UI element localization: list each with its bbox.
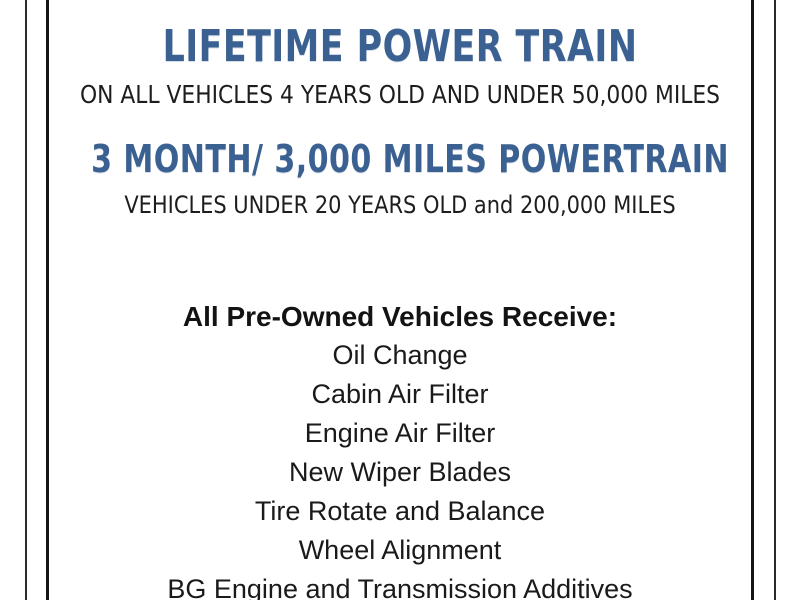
service-item: Wheel Alignment — [49, 531, 751, 570]
service-item: New Wiper Blades — [49, 453, 751, 492]
lifetime-powertrain-subline: ON ALL VEHICLES 4 YEARS OLD AND UNDER 50… — [60, 82, 741, 107]
services-list: Oil ChangeCabin Air FilterEngine Air Fil… — [49, 336, 751, 600]
service-item: Oil Change — [49, 336, 751, 375]
service-item: Tire Rotate and Balance — [49, 492, 751, 531]
border-rule-outer-left — [25, 0, 27, 600]
services-section: All Pre-Owned Vehicles Receive: Oil Chan… — [49, 298, 751, 600]
border-rule-inner-right — [751, 0, 754, 600]
flyer-content: LIFETIME POWER TRAIN ON ALL VEHICLES 4 Y… — [49, 0, 751, 600]
service-item: Engine Air Filter — [49, 414, 751, 453]
service-item: Cabin Air Filter — [49, 375, 751, 414]
three-month-powertrain-subline: VEHICLES UNDER 20 YEARS OLD and 200,000 … — [60, 193, 741, 217]
border-rule-outer-right — [774, 0, 776, 600]
three-month-powertrain-headline: 3 MONTH/ 3,000 MILES POWERTRAIN — [91, 140, 709, 178]
warranty-flyer: LIFETIME POWER TRAIN ON ALL VEHICLES 4 Y… — [0, 0, 800, 600]
services-title: All Pre-Owned Vehicles Receive: — [49, 298, 751, 336]
lifetime-powertrain-headline: LIFETIME POWER TRAIN — [91, 25, 709, 69]
service-item: BG Engine and Transmission Additives — [49, 570, 751, 600]
